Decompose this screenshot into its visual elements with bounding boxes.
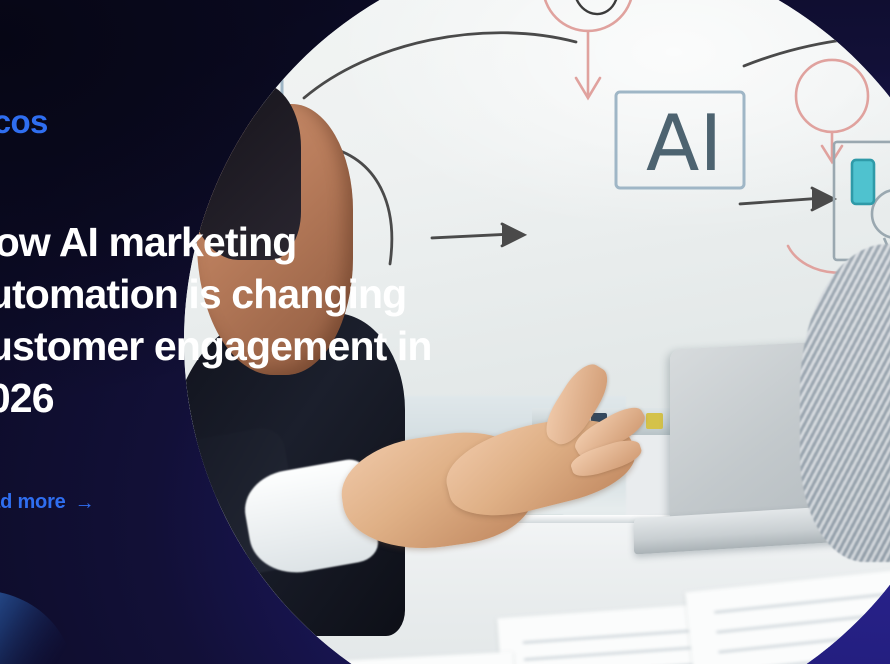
brand-logo[interactable]: mcos [0, 103, 48, 141]
read-more-label: Read more [0, 491, 66, 514]
article-hero-card: AI [0, 0, 890, 664]
marker-yellow [646, 413, 663, 429]
svg-text:AI: AI [646, 99, 722, 189]
striped-top [800, 244, 890, 563]
hero-text-column: mcos How AI marketing automation is chan… [0, 0, 470, 664]
person-right-seated [800, 183, 890, 562]
page-title: How AI marketing automation is changing … [0, 216, 466, 424]
read-more-link[interactable]: Read more → [0, 491, 94, 514]
arrow-right-icon: → [75, 493, 95, 513]
